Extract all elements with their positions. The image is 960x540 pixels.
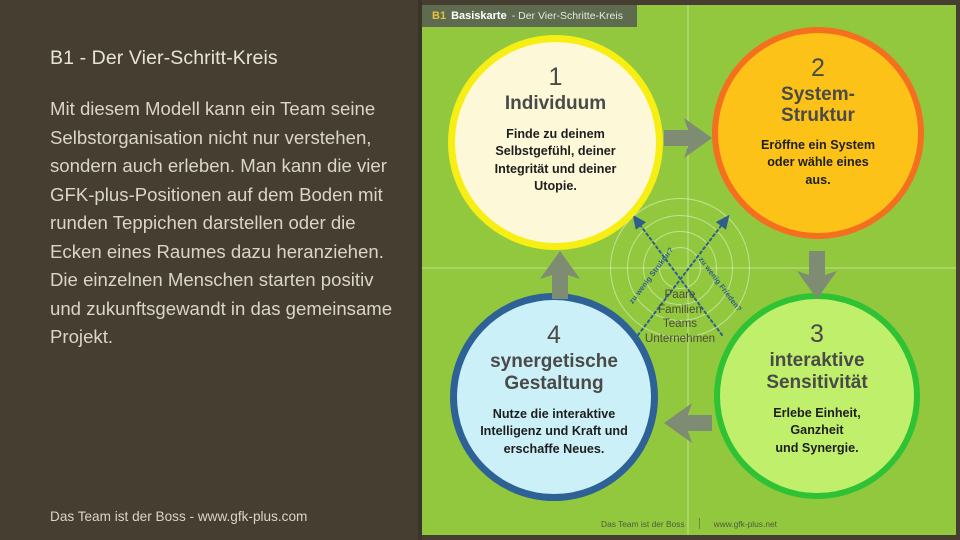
card-panel: B1 Basiskarte - Der Vier-Schritte-Kreis … (422, 5, 956, 535)
node-2-number: 2 (811, 55, 825, 83)
page-title: B1 - Der Vier-Schritt-Kreis (50, 47, 400, 70)
node-3-title: interaktiveSensitivität (766, 350, 867, 394)
node-synergetische-gestaltung[interactable]: 4 synergetischeGestaltung Nutze die inte… (450, 293, 658, 501)
card-tab-code: B1 (432, 10, 446, 22)
card-footer-separator (699, 518, 700, 529)
arrow-down-icon (797, 249, 837, 301)
card-footer-right[interactable]: www.gfk-plus.net (714, 519, 777, 529)
card-tab-subtitle: - Der Vier-Schritte-Kreis (512, 10, 623, 22)
node-2-title: System-Struktur (781, 84, 855, 126)
arrow-up-icon (540, 249, 580, 301)
node-individuum[interactable]: 1 Individuum Finde zu deinemSelbstgefühl… (448, 35, 663, 250)
node-interaktive-sensitivitaet[interactable]: 3 interaktiveSensitivität Erlebe Einheit… (714, 293, 920, 499)
slide: B1 - Der Vier-Schritt-Kreis Mit diesem M… (0, 0, 960, 540)
arrow-right-icon (662, 118, 714, 158)
node-1-title: Individuum (505, 93, 606, 115)
node-4-title: synergetischeGestaltung (490, 351, 618, 395)
node-system-struktur[interactable]: 2 System-Struktur Eröffne ein Systemoder… (712, 27, 924, 239)
arrow-left-icon (662, 403, 714, 443)
node-3-description: Erlebe Einheit,Ganzheitund Synergie. (773, 405, 860, 458)
node-3-number: 3 (810, 321, 824, 349)
node-1-number: 1 (549, 64, 563, 92)
node-4-number: 4 (547, 322, 561, 350)
left-footer-text: Das Team ist der Boss - www.gfk-plus.com (50, 509, 307, 524)
card-footer: Das Team ist der Boss www.gfk-plus.net (422, 518, 956, 529)
node-4-description: Nutze die interaktiveIntelligenz und Kra… (480, 406, 628, 459)
card-header-tab[interactable]: B1 Basiskarte - Der Vier-Schritte-Kreis (422, 5, 637, 27)
node-2-description: Eröffne ein Systemoder wähle einesaus. (761, 137, 875, 190)
node-1-description: Finde zu deinemSelbstgefühl, deinerInteg… (495, 126, 617, 196)
card-tab-title: Basiskarte (451, 10, 507, 22)
card-footer-left: Das Team ist der Boss (601, 519, 685, 529)
left-text-panel: B1 - Der Vier-Schritt-Kreis Mit diesem M… (0, 0, 420, 540)
slide-body-text: Mit diesem Modell kann ein Team seine Se… (50, 95, 402, 352)
